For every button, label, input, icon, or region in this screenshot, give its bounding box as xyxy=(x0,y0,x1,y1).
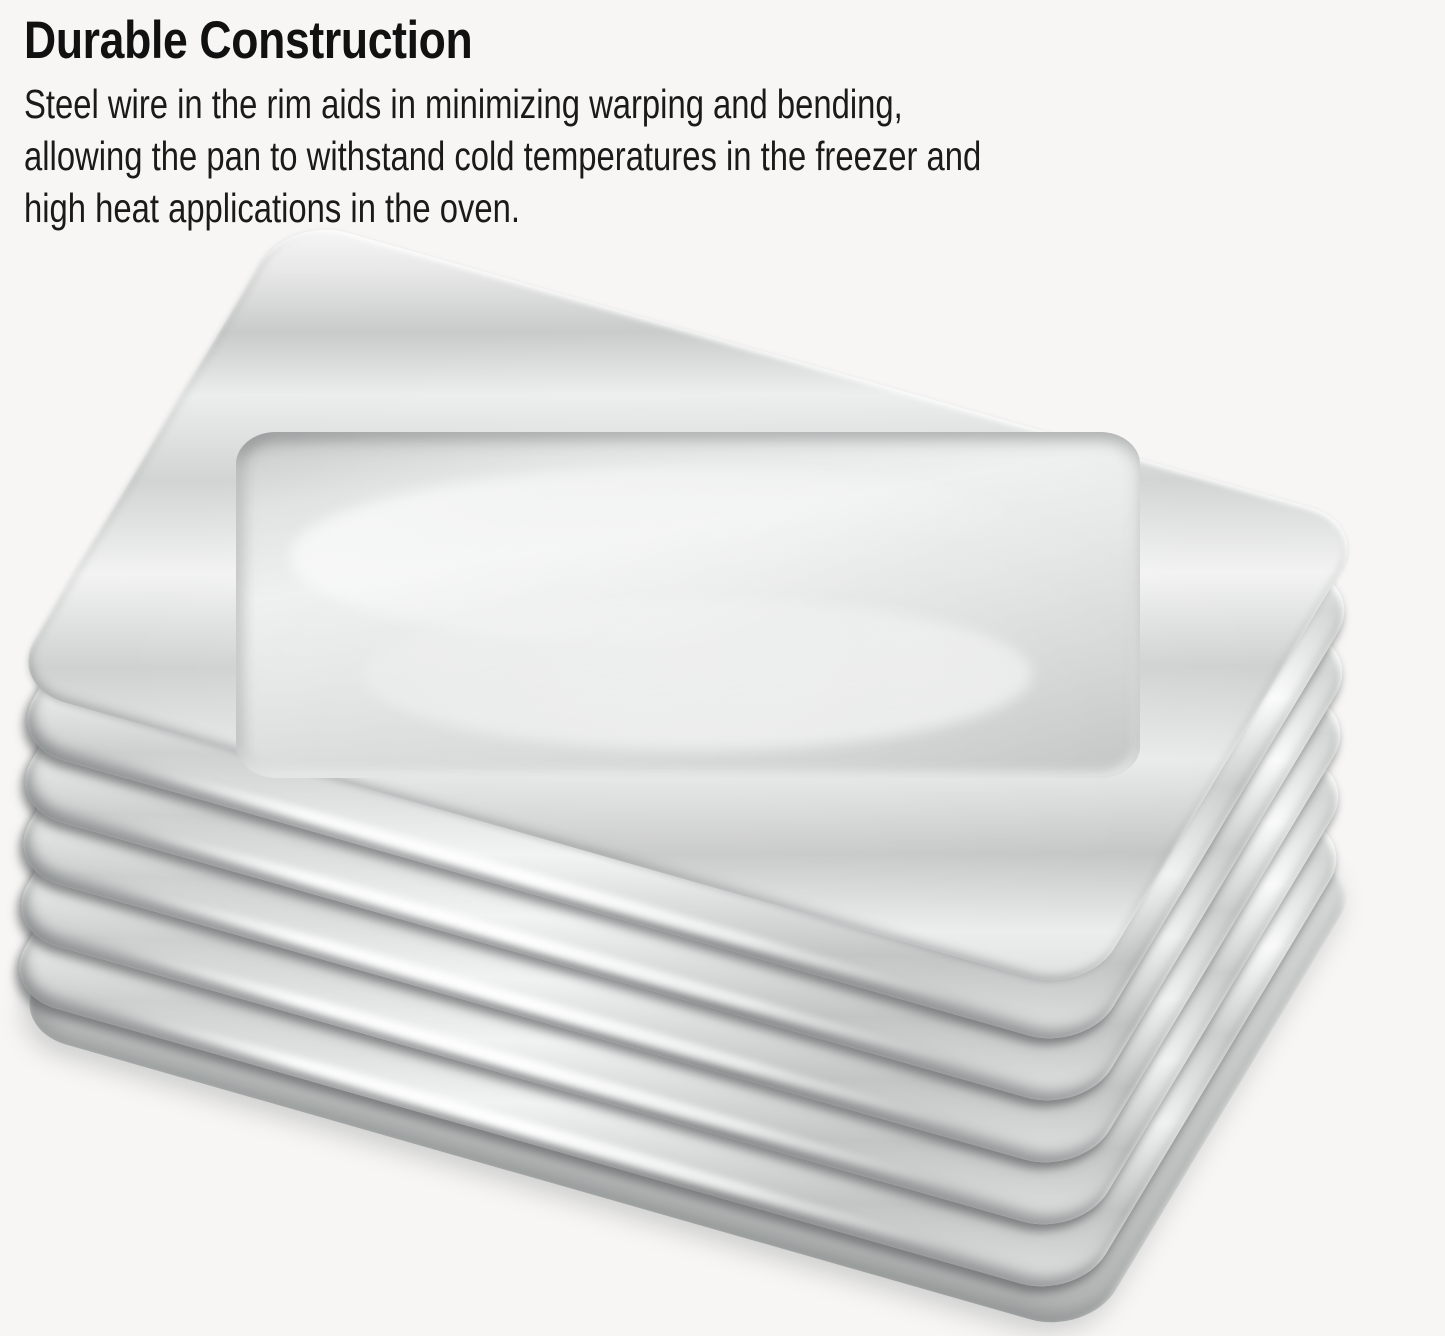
feature-description: Steel wire in the rim aids in minimizing… xyxy=(24,78,1064,234)
feature-text-block: Durable Construction Steel wire in the r… xyxy=(24,10,1324,234)
pan-interior-highlight-lower xyxy=(363,598,1032,750)
description-line-2: allowing the pan to withstand cold tempe… xyxy=(24,130,1064,182)
product-image xyxy=(0,330,1445,1112)
pan-top xyxy=(148,370,1228,840)
description-line-1: Steel wire in the rim aids in minimizing… xyxy=(24,78,1064,130)
pan-top-interior xyxy=(236,432,1140,778)
description-line-3: high heat applications in the oven. xyxy=(24,182,1064,234)
page-title: Durable Construction xyxy=(24,10,1116,72)
pan-stack xyxy=(0,330,1445,1112)
